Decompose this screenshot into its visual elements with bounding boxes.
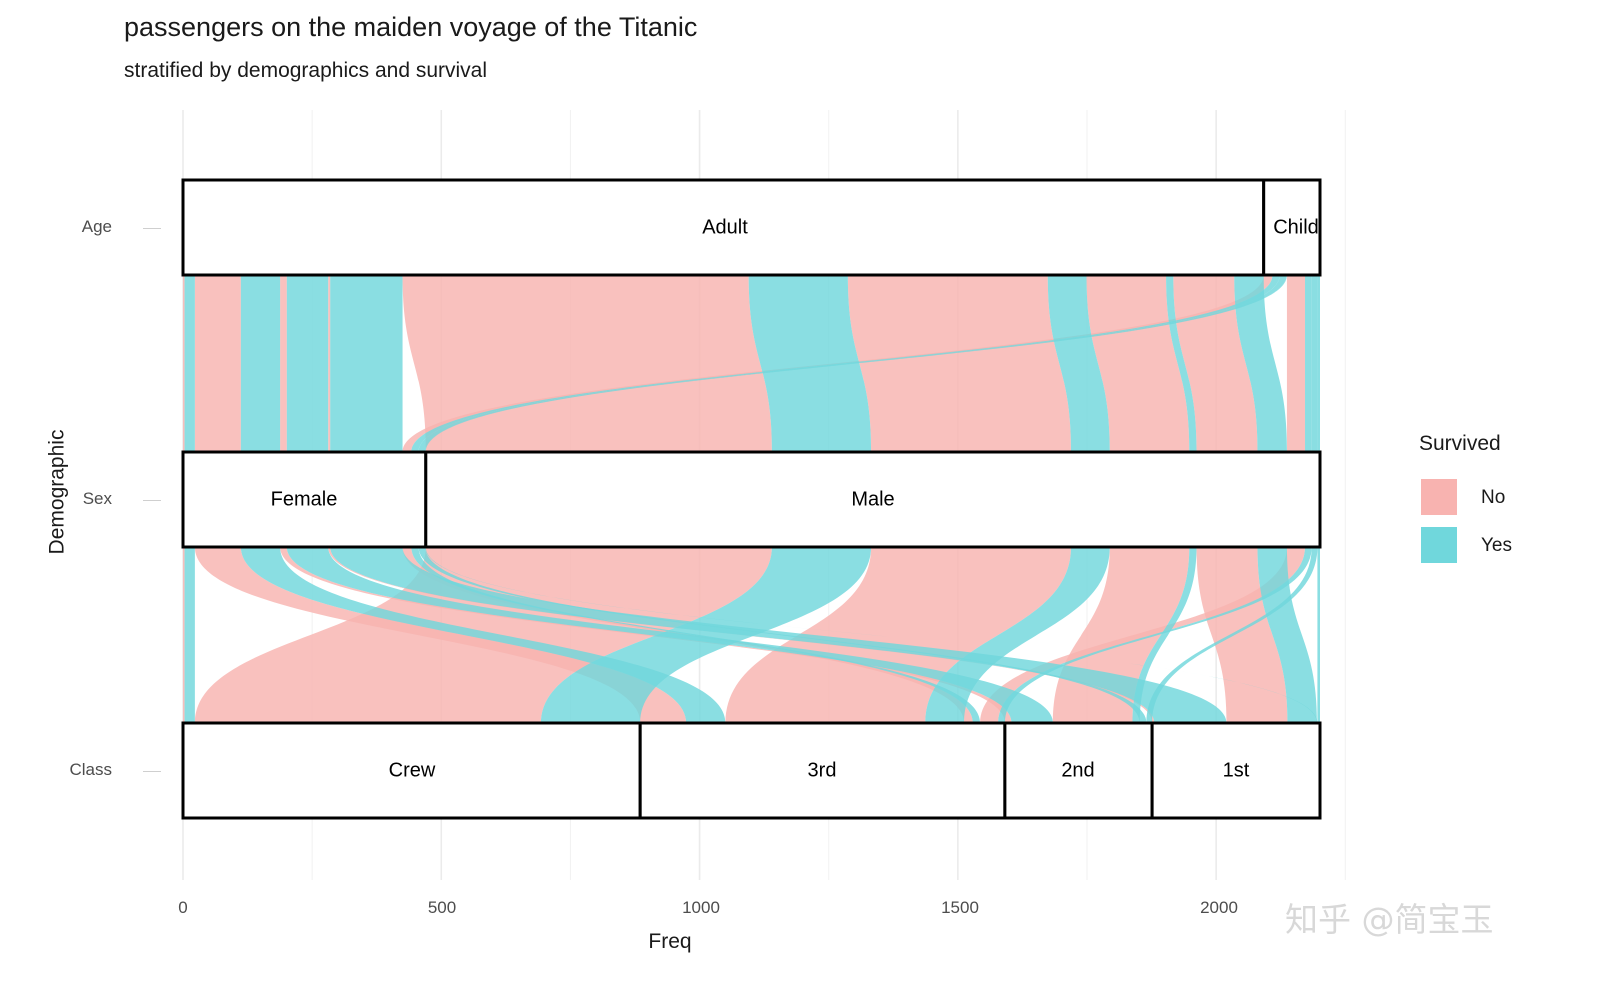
stratum-adult	[183, 180, 1264, 275]
plot-area	[0, 0, 1600, 1000]
legend-swatch-yes[interactable]	[1421, 527, 1457, 563]
stratum-child	[1264, 180, 1320, 275]
legend-label-yes: Yes	[1481, 535, 1512, 557]
strata-boxes	[183, 180, 1320, 818]
legend-title: Survived	[1419, 432, 1501, 456]
legend-label-no: No	[1481, 487, 1505, 509]
watermark: 知乎 @简宝玉	[1285, 893, 1494, 941]
stratum-female	[183, 452, 426, 547]
alluvial-chart-root: passengers on the maiden voyage of the T…	[0, 0, 1600, 1000]
stratum-male	[426, 452, 1320, 547]
stratum-1st	[1152, 723, 1320, 818]
stratum-3rd	[640, 723, 1005, 818]
stratum-crew	[183, 723, 640, 818]
legend-swatch-no[interactable]	[1421, 479, 1457, 515]
stratum-2nd	[1005, 723, 1152, 818]
